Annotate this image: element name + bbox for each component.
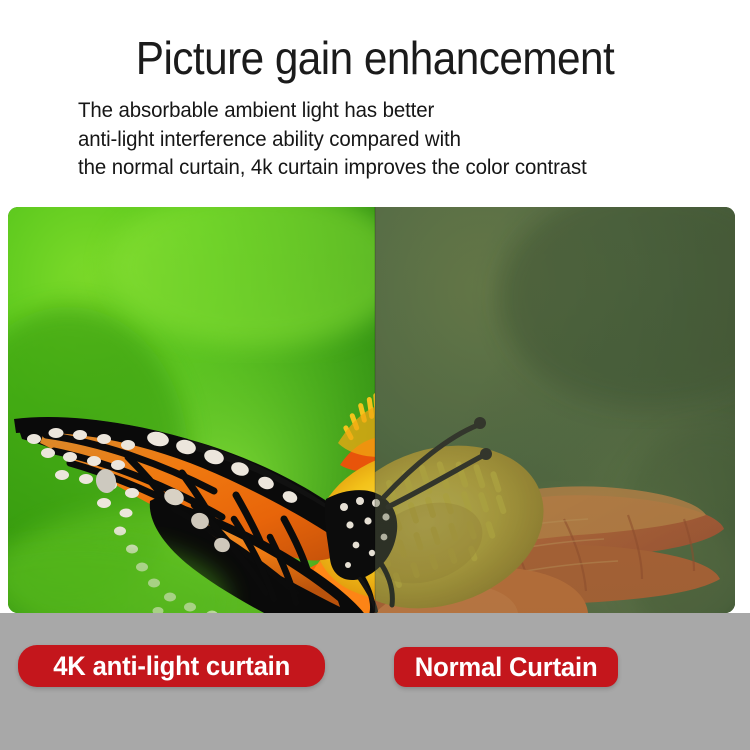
page-title: Picture gain enhancement <box>30 32 720 84</box>
comparison-photo <box>8 207 735 613</box>
page-root: Picture gain enhancement The absorbable … <box>0 0 750 750</box>
badge-4k-anti-light-curtain: 4K anti-light curtain <box>18 645 325 687</box>
badge-4k-label: 4K anti-light curtain <box>53 651 290 682</box>
split-divider <box>374 207 376 613</box>
butterfly-flower-illustration <box>8 207 735 613</box>
badge-normal-label: Normal Curtain <box>415 652 598 683</box>
normal-curtain-wash-overlay <box>375 207 735 613</box>
subtitle-line-1: The absorbable ambient light has better <box>78 96 705 125</box>
subtitle-line-2: anti-light interference ability compared… <box>78 125 705 154</box>
subtitle-line-3: the normal curtain, 4k curtain improves … <box>78 153 705 182</box>
page-subtitle: The absorbable ambient light has better … <box>78 96 738 182</box>
header-block: Picture gain enhancement The absorbable … <box>0 0 750 200</box>
badge-normal-curtain: Normal Curtain <box>394 647 618 687</box>
